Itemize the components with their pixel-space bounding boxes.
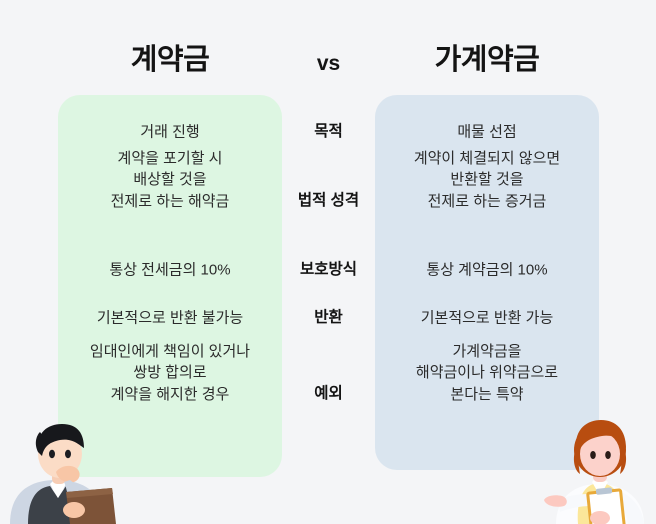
row-criterion: 보호방식 [282,259,375,281]
row-value-right: 통상 계약금의 10% [375,260,599,281]
row-value-right: 가계약금을 해약금이나 위약금으로 본다는 특약 [375,341,599,405]
row-value-left: 기본적으로 반환 불가능 [58,308,282,329]
row-value-right: 기본적으로 반환 가능 [375,308,599,329]
row-value-left: 통상 전세금의 10% [58,260,282,281]
comparison-infographic: 계약금 vs 가계약금 거래 진행 목적 매물 선점 계약을 포기할 시 배상할… [0,0,656,524]
row-value-right: 매물 선점 [375,122,599,143]
row-criterion: 목적 [282,121,375,143]
row-value-right: 계약이 체결되지 않으면 반환할 것을 전제로 하는 증거금 [375,148,599,212]
row-criterion: 법적 성격 [282,190,375,212]
row-value-left: 임대인에게 책임이 있거나 쌍방 합의로 계약을 해지한 경우 [58,341,282,405]
versus-label: vs [282,53,375,74]
woman-illustration [544,414,656,524]
row-value-left: 거래 진행 [58,122,282,143]
page-title-left: 계약금 [58,46,282,75]
businessman-illustration [4,414,124,524]
row-value-left: 계약을 포기할 시 배상할 것을 전제로 하는 해약금 [58,148,282,212]
page-title-right: 가계약금 [375,46,599,75]
header-row: 계약금 vs 가계약금 [0,0,656,92]
row-criterion: 반환 [282,307,375,329]
row-criterion: 예외 [282,383,375,405]
